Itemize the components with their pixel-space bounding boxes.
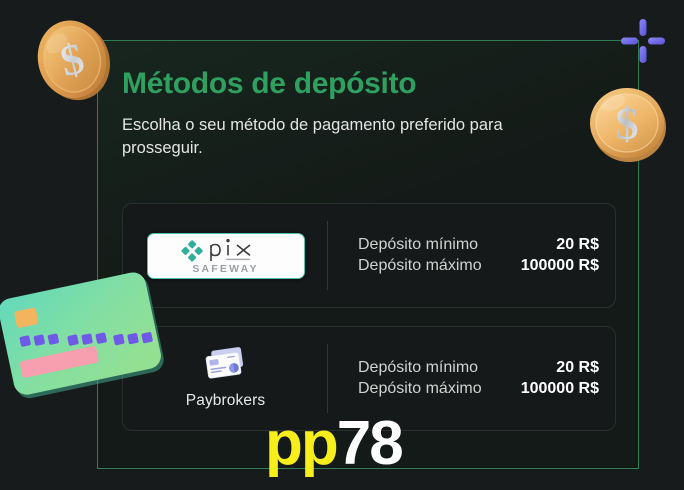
min-deposit-label: Depósito mínimo bbox=[358, 359, 478, 377]
bank-card-icon bbox=[203, 347, 249, 383]
pix-logo-row bbox=[181, 238, 270, 264]
info-row: Depósito mínimo 20 R$ bbox=[358, 359, 599, 377]
paybrokers-deposit-info: Depósito mínimo 20 R$ Depósito máximo 10… bbox=[328, 356, 615, 401]
max-deposit-value: 100000 R$ bbox=[521, 257, 599, 275]
payment-method-pix-safeway[interactable]: SAFEWAY Depósito mínimo 20 R$ Depósito m… bbox=[122, 203, 616, 308]
site-watermark: pp78 bbox=[265, 413, 402, 475]
info-row: Depósito máximo 100000 R$ bbox=[358, 257, 599, 275]
min-deposit-label: Depósito mínimo bbox=[358, 236, 478, 254]
max-deposit-label: Depósito máximo bbox=[358, 380, 482, 398]
page-title: Métodos de depósito bbox=[122, 67, 614, 100]
pix-brand-area[interactable]: SAFEWAY bbox=[123, 204, 328, 307]
pix-deposit-info: Depósito mínimo 20 R$ Depósito máximo 10… bbox=[328, 233, 615, 278]
max-deposit-label: Depósito máximo bbox=[358, 257, 482, 275]
deposit-methods-container: Métodos de depósito Escolha o seu método… bbox=[97, 40, 639, 469]
page-subtitle: Escolha o seu método de pagamento prefer… bbox=[122, 114, 572, 161]
watermark-part-one: pp bbox=[265, 409, 337, 478]
deposit-panel-inner: Métodos de depósito Escolha o seu método… bbox=[98, 41, 638, 468]
pix-diamonds-icon bbox=[181, 240, 203, 262]
watermark-part-two: 78 bbox=[337, 409, 402, 478]
pix-wordmark-icon bbox=[208, 238, 270, 264]
pix-safeway-text: SAFEWAY bbox=[192, 263, 258, 275]
svg-text:$: $ bbox=[56, 33, 89, 86]
info-row: Depósito mínimo 20 R$ bbox=[358, 236, 599, 254]
min-deposit-value: 20 R$ bbox=[556, 359, 599, 377]
paybrokers-label: Paybrokers bbox=[186, 392, 265, 410]
max-deposit-value: 100000 R$ bbox=[521, 380, 599, 398]
pix-logo-card[interactable]: SAFEWAY bbox=[147, 233, 305, 279]
min-deposit-value: 20 R$ bbox=[556, 236, 599, 254]
info-row: Depósito máximo 100000 R$ bbox=[358, 380, 599, 398]
